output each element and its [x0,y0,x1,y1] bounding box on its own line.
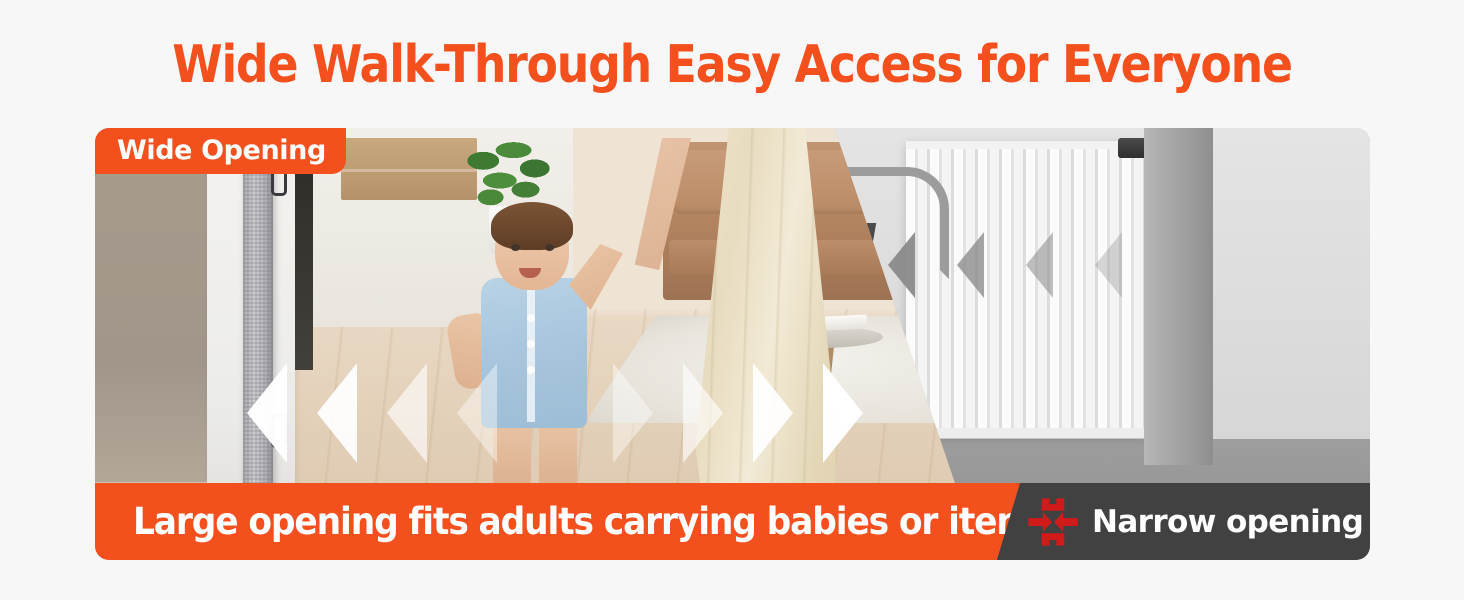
narrow-opening-caption-label: Narrow opening [1092,504,1363,540]
chevron-right-icon [613,363,653,463]
chevron-left-icon [888,232,915,298]
comparison-card: Wide Opening Large opening fits adults c… [95,128,1370,560]
cabinet [341,138,477,200]
chevron-left-icon [457,363,497,463]
retracted-mesh-gate [243,134,273,536]
toddler-hair [491,202,573,250]
chevron-left-icon [1095,232,1122,298]
promo-banner: Wide Walk-Through Easy Access for Everyo… [0,0,1464,600]
left-wall [95,128,207,508]
toddler-button [527,366,535,374]
toddler-romper-placket [527,284,535,422]
toddler-eye [545,244,554,251]
gate-top-rail [906,141,1148,149]
narrow-opening-caption: Narrow opening [1020,483,1363,560]
gate-bottom-rail [906,428,1148,438]
toddler-eye [511,244,520,251]
wide-opening-badge-label: Wide Opening [117,128,326,174]
chevron-right-icon [753,363,793,463]
toddler-button [527,340,535,348]
chevron-right-icon [683,363,723,463]
door-post [1144,128,1213,465]
wide-opening-badge: Wide Opening [95,128,346,174]
toddler-button [527,314,535,322]
chevron-left-icon [317,363,357,463]
page-title: Wide Walk-Through Easy Access for Everyo… [88,34,1376,96]
compress-inward-icon [1026,495,1080,549]
chevron-left-icon [957,232,984,298]
wide-opening-caption-label: Large opening fits adults carrying babie… [133,500,1050,543]
chevron-left-icon [387,363,427,463]
chevron-right-icon [823,363,863,463]
wide-opening-caption-bar: Large opening fits adults carrying babie… [95,483,1020,560]
chevron-left-icon [247,363,287,463]
chevron-left-icon [1026,232,1053,298]
